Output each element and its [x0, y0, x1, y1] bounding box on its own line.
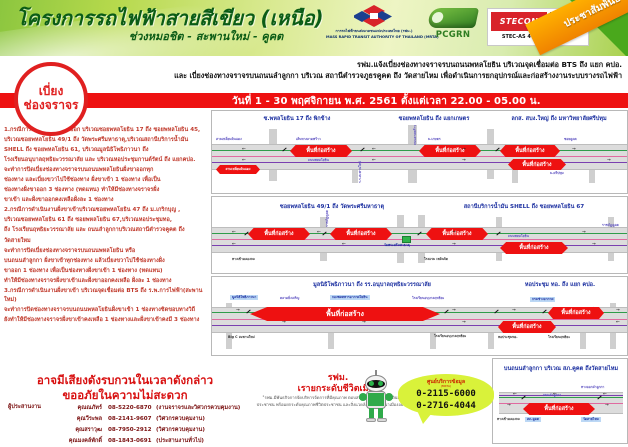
poi-chip: กองพลทหารอากาศโยธิน	[330, 295, 370, 300]
badge-line-1: เบี่ยง	[39, 85, 64, 99]
map-label: หอประชุมทอ.	[498, 335, 518, 340]
zone-label: พื้นที่ก่อสร้าง	[512, 323, 541, 331]
coordinator-name: คุณมงคล์พักดิ์	[60, 436, 108, 447]
construction-zone: พื้นที่ก่อสร้าง	[248, 228, 310, 240]
zone-label: พื้นที่ก่อสร้าง	[346, 230, 375, 238]
mrta-mission-text: "รฟม.มีพันธกิจการจัดบริหารจัดการที่มีคุณ…	[256, 395, 420, 408]
direction-arrow: →	[462, 148, 466, 153]
panel-c-title-right: หอประชุม ทอ. ถึง แยก คปอ.	[500, 281, 620, 289]
direction-arrow: ←	[513, 393, 517, 398]
direction-arrow: →	[236, 309, 240, 314]
detail-line: ถึง โรงเรียนฤทธิยะวรรณาลัย และ ถนนลำลูกก…	[4, 226, 208, 235]
direction-arrow: →	[616, 309, 620, 314]
map-label: ถนนพหลโยธิน	[308, 158, 329, 163]
zone-label: พื้นที่ก่อสร้าง	[522, 161, 551, 169]
panel-d-title: บนถนนลำลูกกา บริเวณ สภ.คูคต ถึงวัดสายไหม	[497, 365, 625, 373]
detail-line: ยังทำให้มีช่องทางจราจรฝั่งขาเข้าคงเหลือ …	[4, 316, 208, 325]
zone-label: พื้นที่ก่อสร้าง	[435, 147, 464, 155]
detail-line: 2.กรณีการดำเนินงานฝั่งขาเข้าบริเวณซอยพหล…	[4, 206, 208, 215]
mascot-foot-right	[377, 418, 387, 422]
zone-label: พื้นที่ก่อสร้าง	[515, 147, 544, 155]
map-label: โรงเรียนฤทธิยะ	[548, 335, 570, 340]
mascot-eye-left	[369, 381, 374, 386]
mascot-arm-right	[385, 393, 393, 401]
direction-arrow: →	[572, 148, 576, 153]
cross-street-label: ร.ร.สะพานใหม่	[358, 161, 363, 183]
map-label: ตลาดยิ่งเจริญ	[280, 296, 299, 301]
panel-c-title-left: มูลนิธิโพธิภาวนา ถึง รร.อนุบาลฤทธิยะวรรณ…	[262, 281, 482, 289]
hotline-phone-1[interactable]: 0-2115-6000	[398, 389, 494, 399]
coordinator-note: (งานจราจรและวิศวกรควบคุมงาน)	[156, 403, 250, 414]
construction-zone: พื้นที่ก่อสร้าง	[498, 321, 556, 333]
station-marker	[402, 236, 411, 243]
detail-line: ช่องทางฝั่งขาออก 3 ช่องทาง (ทดแทน) ทำให้…	[4, 186, 208, 195]
map-label: ถนนพหลโยธิน	[508, 234, 529, 239]
direction-arrow: ←	[372, 148, 376, 153]
coordinator-label: ผู้ประสานงาน	[8, 403, 41, 411]
detail-line: จะทำการปิดเบี่ยงช่องทางจราจรบนถนนพหลโยธิ…	[4, 247, 208, 256]
direction-arrow: →	[362, 321, 366, 326]
panel-a-title-mid: ซอยพหลโยธิน ถึง แยกเกษตร	[374, 115, 494, 123]
direction-arrow: ←	[232, 231, 236, 236]
lane-line-purple	[212, 325, 628, 326]
construction-zone: พื้นที่ก่อสร้าง	[330, 228, 392, 240]
map-panel-d: บนถนนลำลูกกา บริเวณ สภ.คูคต ถึงวัดสายไหม…	[492, 358, 628, 444]
construction-zone: พื้นที่ก่อสร้าง	[419, 145, 481, 157]
pcgrn-logo: PCGRN	[425, 6, 481, 50]
mascot-vest	[368, 393, 384, 406]
mrta-logo-text-th: การรถไฟฟ้าขนส่งมวลชนแห่งประเทศไทย (รฟม.)	[326, 29, 422, 33]
zone-label: พื้นที่ก่อสร้าง	[264, 230, 293, 238]
lane-line-purple	[212, 162, 628, 163]
mascot-foot-left	[366, 418, 376, 422]
construction-zone: พื้นที่ก่อสร้าง	[426, 228, 488, 240]
hotline-sublabel: (MRTA)	[398, 384, 494, 388]
detail-line: บนถนนลำลูกกา ฝั่งขาเข้าทุกช่องทาง แล้วเบ…	[4, 257, 208, 266]
map-label: ทางออกลำลูกกา	[581, 385, 604, 390]
zone-label: พื้นที่ก่อสร้าง	[442, 230, 471, 238]
coordinator-row: คุณสราวุฒ08-7950-2912(วิศวกรควบคุมงาน)	[60, 425, 250, 436]
direction-arrow: →	[452, 309, 456, 314]
cross-street-label: ราชภัฏคูคต	[325, 210, 330, 227]
zone-label: พื้นที่ก่อสร้าง	[561, 309, 590, 317]
construction-zone: พื้นที่ก่อสร้าง	[508, 159, 566, 170]
panel-b-title-right: สถานีบริการน้ำมัน SHELL ถึง ซอยพหลโยธิน …	[424, 203, 624, 211]
direction-arrow: →	[452, 243, 456, 248]
direction-arrow: ←	[342, 243, 346, 248]
construction-zone-small: สามเหลี่ยมดินแดง	[216, 165, 260, 174]
mrta-mark-icon	[354, 4, 394, 28]
map-panel-b: ซอยพหลโยธิน 49/1 ถึง วัดพระศรีมหาธาตุ สถ…	[211, 196, 628, 274]
coordinator-name: คุณณภัทร์	[60, 403, 108, 414]
zone-label: พื้นที่ก่อสร้าง	[306, 147, 335, 155]
zone-label: พื้นที่ก่อสร้าง	[326, 309, 364, 320]
construction-zone: พื้นที่ก่อสร้าง	[523, 403, 595, 415]
coordinator-row: คุณวีระพล08-2141-9607(วิศวกรควบคุมงาน)	[60, 414, 250, 425]
detail-line: ทำให้มีช่องทางจราจรฝั่งขาเข้าและฝั่งขาออ…	[4, 277, 208, 286]
map-label: ม.ศรีปทุม	[550, 171, 564, 176]
map-label: สามเหลี่ยมดินแดง	[216, 137, 242, 142]
hotline-speech-bubble: ศูนย์บริการข้อมูล (MRTA) 0-2115-6000 0-2…	[398, 374, 494, 416]
coordinator-row: คุณมงคล์พักดิ์08-1843-0691(ประสานงานทั่ว…	[60, 436, 250, 447]
map-label: โรงเรียนอนุบาลฤทธิยะ	[412, 296, 444, 301]
coordinator-list: คุณณภัทร์08-5220-6870(งานจราจรและวิศวกรค…	[60, 403, 250, 447]
panel-b-title-left: ซอยพหลโยธิน 49/1 ถึง วัดพระศรีมหาธาตุ	[242, 203, 422, 211]
construction-zone: พื้นที่ก่อสร้าง	[250, 307, 440, 321]
map-label: ทางเข้าคลองถม	[232, 257, 255, 262]
direction-arrow: →	[462, 159, 466, 164]
coordinator-note: (วิศวกรควบคุมงาน)	[156, 425, 250, 436]
direction-arrow: ←	[317, 231, 321, 236]
detail-line: โรงเรียนอนุบาลฤทธิยะวรรณาลัย และ บริเวณห…	[4, 156, 208, 165]
notice-line-2: และ เบี่ยงช่องทางจราจรบนถนนลำลูกกา บริเว…	[0, 71, 628, 82]
panel-a-title-right: ลกส. สบง.ใหญ่ ถึง มหาวิทยาลัยศรีปทุม	[494, 115, 624, 123]
direction-arrow: ←	[372, 159, 376, 164]
direction-arrow: ←	[232, 243, 236, 248]
direction-arrow: ←	[616, 321, 620, 326]
mrta-logo: การรถไฟฟ้าขนส่งมวลชนแห่งประเทศไทย (รฟม.)…	[326, 4, 422, 48]
train-icon	[427, 8, 479, 28]
mascot-robot-icon	[358, 370, 394, 422]
direction-arrow: →	[605, 404, 609, 409]
map-label: เส้นทางลาดพร้าว	[296, 137, 321, 142]
contact-section: อาจมีเสียงดังรบกวนในเวลาดังกล่าว ขออภัยใ…	[0, 368, 250, 444]
zone-label: พื้นที่ก่อสร้าง	[544, 405, 573, 413]
direction-arrow: ←	[553, 393, 557, 398]
direction-arrow: →	[582, 231, 586, 236]
date-banner: วันที่ 1 - 30 พฤศจิกายน พ.ศ. 2561 ตั้งแต…	[0, 93, 628, 108]
construction-zone: พื้นที่ก่อสร้าง	[500, 145, 560, 157]
direction-arrow: →	[592, 243, 596, 248]
map-label: วัดพระศรีมหาธาตุ	[384, 243, 410, 248]
map-label: โรงเรียนอนุบาลฤทธิยะ	[434, 334, 466, 339]
direction-arrow: ←	[242, 148, 246, 153]
poi-chip: กรมช่างอากาศ	[530, 297, 555, 302]
map-label: ทางเข้าคลองถม	[497, 417, 520, 422]
poi-chip: วัดสายไหม	[581, 417, 601, 422]
coordinator-row: คุณณภัทร์08-5220-6870(งานจราจรและวิศวกรค…	[60, 403, 250, 414]
map-label: Big C สะพานใหม่	[228, 335, 255, 340]
detail-line: จะทำการปิดช่องทางจราจรบนถนนพหลโยธินฝั่งข…	[4, 306, 208, 315]
construction-zone: พื้นที่ก่อสร้าง	[500, 242, 568, 254]
map-panel-a: ซ.พหลโยธิน 17 ถึง พิกข้าง ซอยพหลโยธิน ถึ…	[211, 110, 628, 194]
page-header: โครงการรถไฟฟ้าสายสีเขียว (เหนือ) ช่วงหมอ…	[0, 0, 628, 56]
mrta-logo-text-en: MASS RAPID TRANSIT AUTHORITY OF THAILAND…	[326, 35, 422, 39]
direction-arrow: ←	[242, 159, 246, 164]
zone-label: พื้นที่ก่อสร้าง	[519, 244, 548, 252]
date-banner-text: วันที่ 1 - 30 พฤศจิกายน พ.ศ. 2561 ตั้งแต…	[232, 94, 541, 109]
direction-arrow: →	[607, 159, 611, 164]
map-label: ซอยคูคต	[564, 137, 577, 142]
detail-line: บริเวณซอยพหลโยธิน 61 ถึง ซอยพหลโยธิน 67,…	[4, 216, 208, 225]
detail-line: SHELL ถึง ซอยพหลโยธิน 61, บริเวณมูลนิธิโ…	[4, 146, 208, 155]
lane-line-pink	[212, 156, 628, 157]
mascot-eye-right	[378, 381, 383, 386]
direction-arrow: ←	[603, 393, 607, 398]
poi-chip: สภ.คูคต	[525, 417, 541, 422]
coordinator-phone[interactable]: 08-1843-0691	[108, 436, 156, 447]
zone-label: สามเหลี่ยมดินแดง	[226, 167, 251, 172]
notice-line-1: รฟม.แจ้งเบี่ยงช่องทางจราจรบนถนนพหลโยธิน …	[0, 60, 628, 71]
direction-arrow: →	[282, 321, 286, 326]
hotline-phone-2[interactable]: 0-2716-4044	[398, 401, 494, 411]
detail-line: บริเวณซอยพหลโยธิน 49/1 ถึง วัดพระศรีมหาธ…	[4, 136, 208, 145]
hotline-section: รฟม. เรายกระดับชีวิตเมือง "รฟม.มีพันธกิจ…	[250, 368, 500, 444]
direction-arrow: →	[512, 309, 516, 314]
coordinator-name: คุณวีระพล	[60, 414, 108, 425]
poi-chip: มูลนิธิโพธิภาวนา	[230, 295, 258, 300]
map-panel-c: มูลนิธิโพธิภาวนา ถึง รร.อนุบาลฤทธิยะวรรณ…	[211, 276, 628, 356]
detail-line: 3.กรณีการดำเนินงานฝั่งขาเข้า บริเวณจุดเช…	[4, 287, 208, 305]
detail-line: วัดสายใหม	[4, 237, 208, 246]
detail-line: ขาออก 1 ช่องทาง เพื่อเป็นช่องทางฝั่งขาเข…	[4, 267, 208, 276]
direction-arrow: →	[507, 404, 511, 409]
coordinator-note: (วิศวกรควบคุมงาน)	[156, 414, 250, 425]
detail-line: จะทำการปิดเบี่ยงช่องทางจราจรบนถนนพหลโยธิ…	[4, 166, 208, 175]
badge-line-2: ช่องจราจร	[24, 99, 79, 113]
cross-street-label: ถนนลาดพร้าว	[413, 125, 418, 145]
coordinator-phone[interactable]: 08-5220-6870	[108, 403, 156, 414]
direction-arrow: →	[462, 321, 466, 326]
detail-line: ช่องทาง และเบี่ยงขวาไปใช้ช่องทาง ฝั่งขาเ…	[4, 176, 208, 185]
mascot-arm-left	[359, 393, 367, 401]
coordinator-phone[interactable]: 08-7950-2912	[108, 425, 156, 436]
construction-zone: พื้นที่ก่อสร้าง	[290, 145, 352, 157]
map-label: ราชภัฏคูคต	[602, 223, 619, 228]
roadway-band	[212, 144, 628, 170]
direction-arrow: →	[452, 231, 456, 236]
map-label: ม.เกษตร	[428, 137, 441, 142]
pcgrn-logo-text: PCGRN	[425, 30, 481, 40]
coordinator-note: (ประสานงานทั่วไป)	[156, 436, 250, 447]
construction-zone: พื้นที่ก่อสร้าง	[548, 307, 604, 319]
panel-a-title-left: ซ.พหลโยธิน 17 ถึง พิกข้าง	[222, 115, 372, 123]
left-detail-text: 1.กรณีการดำเนินงานฝั่งขาออก บริเวณซอยพหล…	[4, 126, 208, 358]
lane-diversion-badge: เบี่ยง ช่องจราจร	[14, 62, 88, 136]
coordinator-name: คุณสราวุฒ	[60, 425, 108, 436]
detail-line: ขาเข้า และฝั่งขาออกคงเหลือฝั่งละ 1 ช่องท…	[4, 196, 208, 205]
coordinator-phone[interactable]: 08-2141-9607	[108, 414, 156, 425]
map-label: โรงแรม เพลินจิต	[424, 257, 448, 262]
